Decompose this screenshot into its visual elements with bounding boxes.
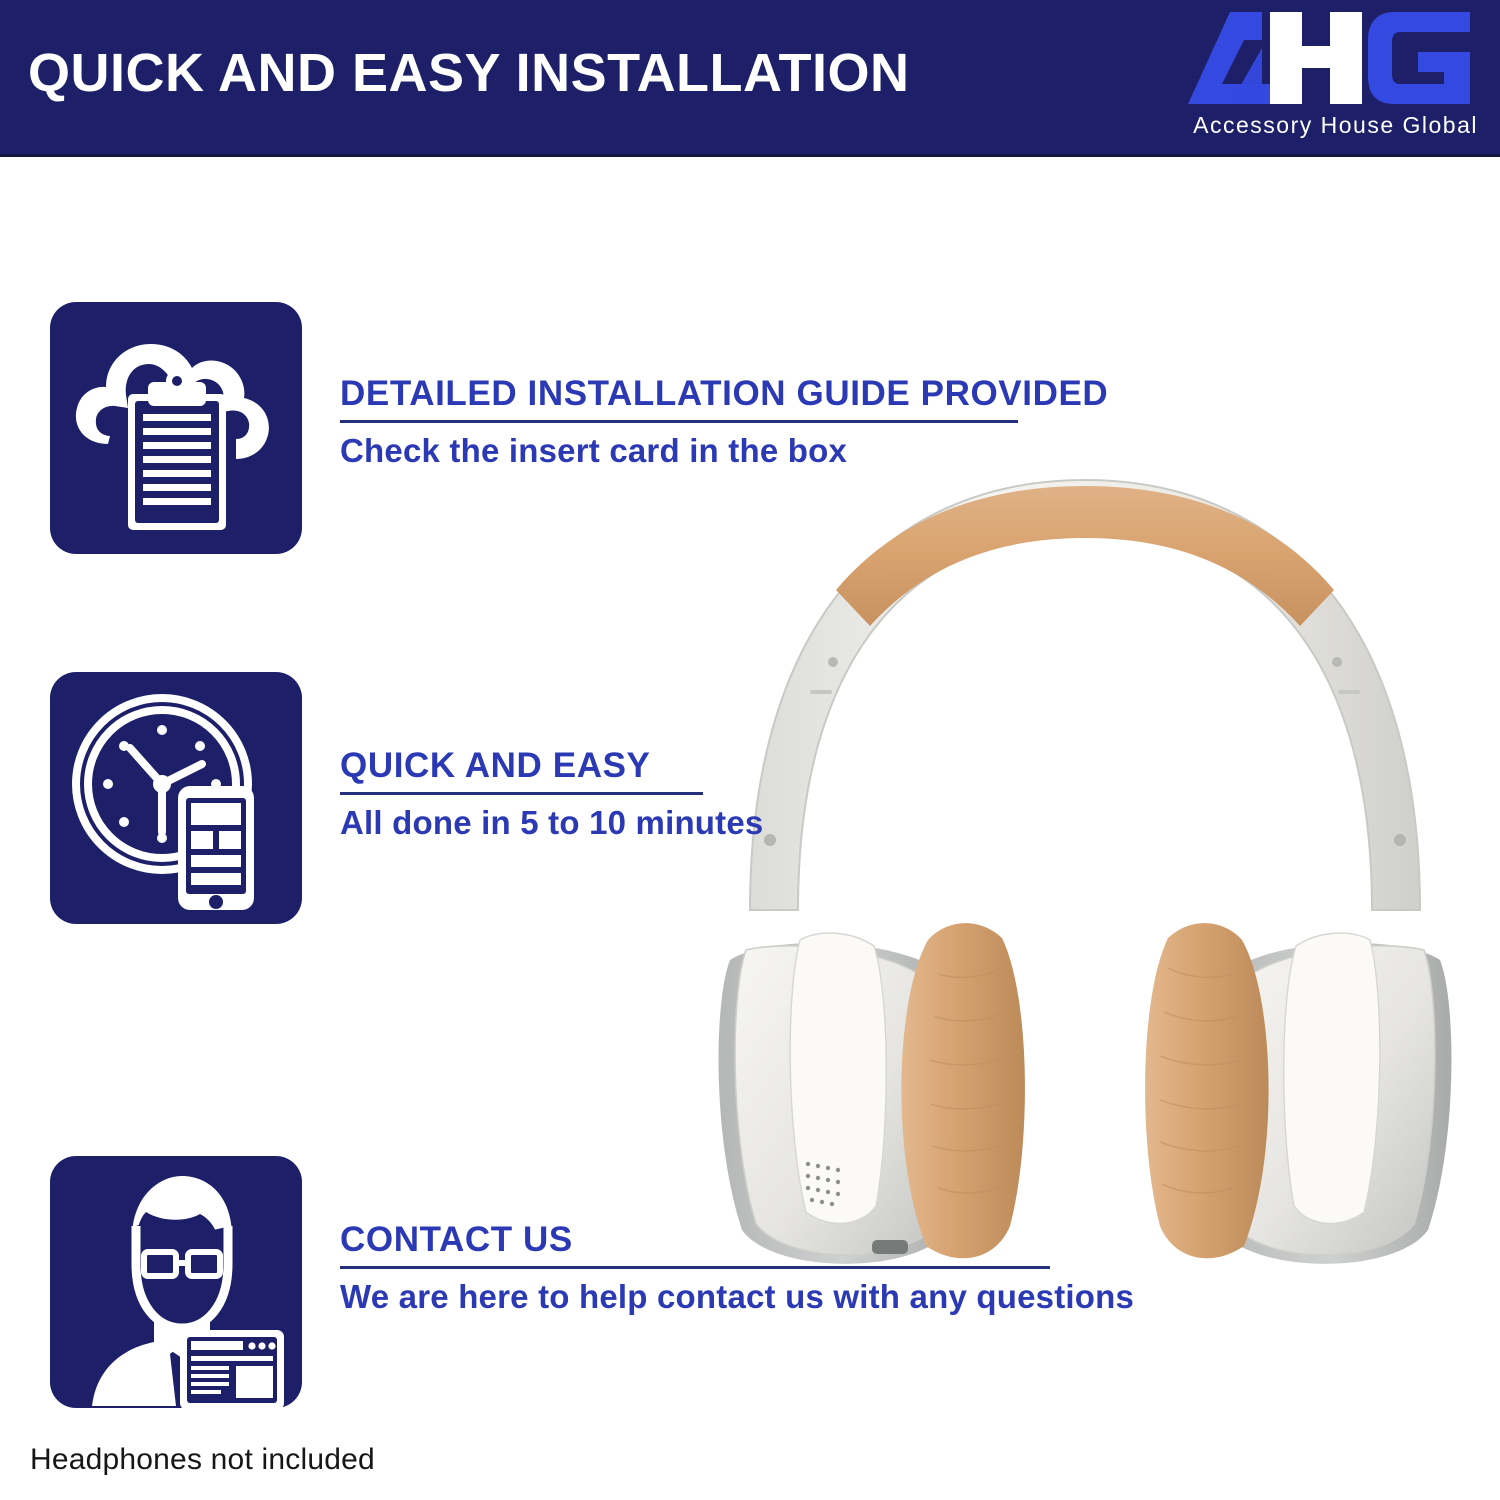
ahg-logo-icon	[1178, 8, 1478, 108]
support-agent-icon	[50, 1156, 302, 1408]
feature-title: DETAILED INSTALLATION GUIDE PROVIDED	[340, 376, 1060, 413]
feature-row-quick-easy: QUICK AND EASY All done in 5 to 10 minut…	[50, 672, 1060, 924]
logo-tagline: Accessory House Global	[1178, 112, 1478, 139]
feature-text-block: QUICK AND EASY All done in 5 to 10 minut…	[340, 748, 1060, 842]
feature-subtitle: Check the insert card in the box	[340, 432, 1060, 470]
feature-row-contact-us: CONTACT US We are here to help contact u…	[50, 1156, 1060, 1408]
cloud-clipboard-icon	[50, 302, 302, 554]
feature-subtitle: We are here to help contact us with any …	[340, 1278, 1060, 1316]
feature-subtitle: All done in 5 to 10 minutes	[340, 804, 1060, 842]
feature-text-block: CONTACT US We are here to help contact u…	[340, 1222, 1060, 1316]
feature-title: QUICK AND EASY	[340, 748, 1060, 785]
page-title: QUICK AND EASY INSTALLATION	[28, 46, 910, 100]
feature-text-block: DETAILED INSTALLATION GUIDE PROVIDED Che…	[340, 376, 1060, 470]
disclaimer-text: Headphones not included	[30, 1443, 375, 1477]
feature-divider	[340, 1266, 1050, 1269]
feature-row-installation-guide: DETAILED INSTALLATION GUIDE PROVIDED Che…	[50, 302, 1060, 554]
clock-phone-icon	[50, 672, 302, 924]
brand-logo: Accessory House Global	[1178, 8, 1478, 150]
feature-title: CONTACT US	[340, 1222, 1060, 1259]
page-header: QUICK AND EASY INSTALLATION Accessory Ho…	[0, 0, 1500, 157]
feature-divider	[340, 420, 1018, 423]
feature-divider	[340, 792, 703, 795]
